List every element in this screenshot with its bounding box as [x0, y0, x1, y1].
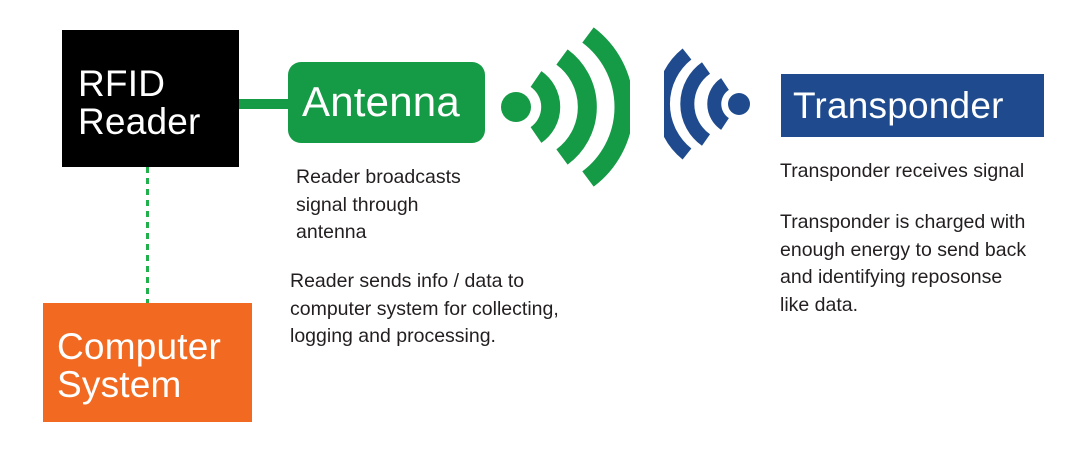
- node-computer-system-label-line2: System: [57, 366, 182, 404]
- reader-to-antenna-connector: [236, 99, 292, 109]
- node-computer-system: Computer System: [43, 303, 252, 422]
- node-rfid-reader-label-line2: Reader: [78, 103, 201, 141]
- node-rfid-reader-label-line1: RFID: [78, 65, 165, 103]
- node-transponder-label: Transponder: [793, 87, 1004, 125]
- radio-wave-broadcast-icon: [498, 27, 630, 187]
- radio-wave-receive-icon: [664, 48, 756, 161]
- node-computer-system-label-line1: Computer: [57, 328, 221, 366]
- node-transponder: Transponder: [781, 74, 1044, 137]
- caption-antenna-broadcast: Reader broadcasts signal through antenna: [296, 164, 586, 247]
- caption-transponder-charged: Transponder is charged with enough energ…: [780, 209, 1065, 320]
- node-antenna-label: Antenna: [302, 81, 460, 124]
- reader-to-computer-system-connector: [146, 167, 149, 304]
- caption-transponder-receives: Transponder receives signal: [780, 158, 1070, 186]
- caption-reader-to-system: Reader sends info / data to computer sys…: [290, 268, 620, 351]
- node-rfid-reader: RFID Reader: [62, 30, 239, 167]
- rfid-diagram-canvas: RFID Reader Antenna Transponder Computer…: [0, 0, 1074, 453]
- node-antenna: Antenna: [288, 62, 485, 143]
